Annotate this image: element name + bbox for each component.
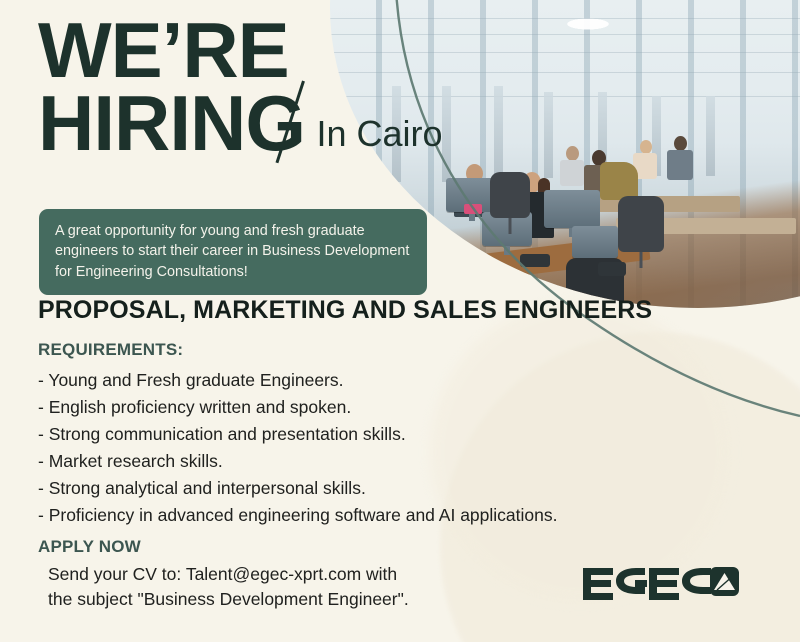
page-title: WE’RE HIRING In Cairo	[38, 14, 435, 159]
apply-instructions: Send your CV to: Talent@egec-xprt.com wi…	[48, 562, 409, 612]
egec-logo	[583, 562, 743, 608]
headline-line-1: WE’RE	[38, 14, 435, 87]
headline-line-2: HIRING	[38, 79, 305, 167]
job-title: PROPOSAL, MARKETING AND SALES ENGINEERS	[38, 296, 652, 325]
list-item: - Young and Fresh graduate Engineers.	[38, 372, 557, 399]
list-item: - Market research skills.	[38, 453, 557, 480]
headline-city: In Cairo	[316, 113, 442, 154]
headline-line-2-row: HIRING In Cairo	[38, 87, 435, 160]
hiring-poster: WE’RE HIRING In Cairo A great opportunit…	[0, 0, 800, 642]
list-item: - English proficiency written and spoken…	[38, 399, 557, 426]
requirements-heading: REQUIREMENTS:	[38, 340, 183, 360]
apply-line-2: the subject "Business Development Engine…	[48, 587, 409, 612]
opportunity-callout: A great opportunity for young and fresh …	[39, 209, 427, 295]
list-item: - Strong communication and presentation …	[38, 426, 557, 453]
apply-line-1: Send your CV to: Talent@egec-xprt.com wi…	[48, 562, 409, 587]
requirements-list: - Young and Fresh graduate Engineers. - …	[38, 372, 557, 534]
egec-logo-mark	[583, 562, 743, 608]
apply-now-heading: APPLY NOW	[38, 537, 141, 557]
opportunity-callout-text: A great opportunity for young and fresh …	[55, 223, 409, 280]
list-item: - Proficiency in advanced engineering so…	[38, 507, 557, 534]
list-item: - Strong analytical and interpersonal sk…	[38, 480, 557, 507]
